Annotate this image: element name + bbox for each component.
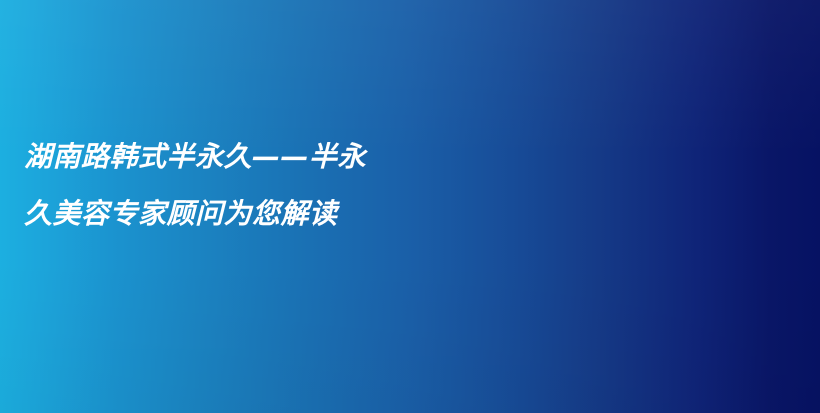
- headline-line-1: 湖南路韩式半永久——半永: [24, 128, 494, 185]
- promo-banner: 湖南路韩式半永久——半永 久美容专家顾问为您解读: [0, 0, 820, 413]
- headline-line-2: 久美容专家顾问为您解读: [24, 185, 494, 242]
- banner-headline: 湖南路韩式半永久——半永 久美容专家顾问为您解读: [24, 128, 494, 242]
